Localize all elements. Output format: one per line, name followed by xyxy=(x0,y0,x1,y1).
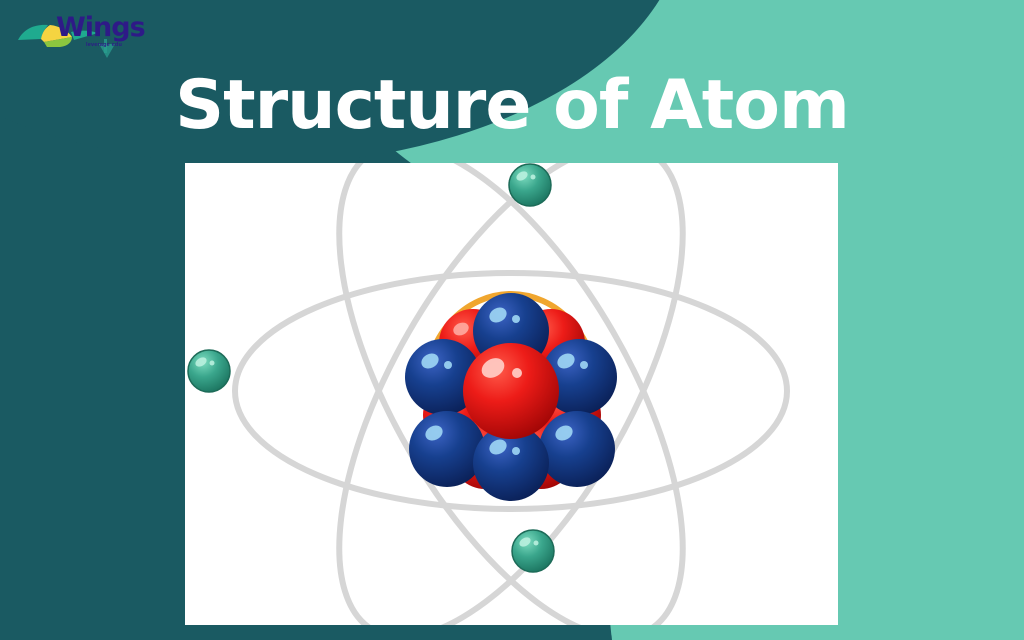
diagram-card: Nucleus xyxy=(185,163,838,625)
poster-canvas: Wings leverage edu Structure of Atom xyxy=(0,0,1024,640)
electron-bottom xyxy=(512,530,554,572)
atom-diagram xyxy=(185,163,838,625)
nucleus-particles xyxy=(405,293,617,501)
logo-wordmark: Wings xyxy=(56,14,145,41)
electron-left xyxy=(188,350,230,392)
electron-top xyxy=(509,164,551,206)
neutron xyxy=(539,411,615,487)
page-title: Structure of Atom xyxy=(0,72,1024,140)
wings-logo[interactable]: Wings leverage edu xyxy=(14,6,164,68)
logo-tagline: leverage edu xyxy=(86,42,146,49)
proton-center xyxy=(463,343,559,439)
neutron xyxy=(409,411,485,487)
